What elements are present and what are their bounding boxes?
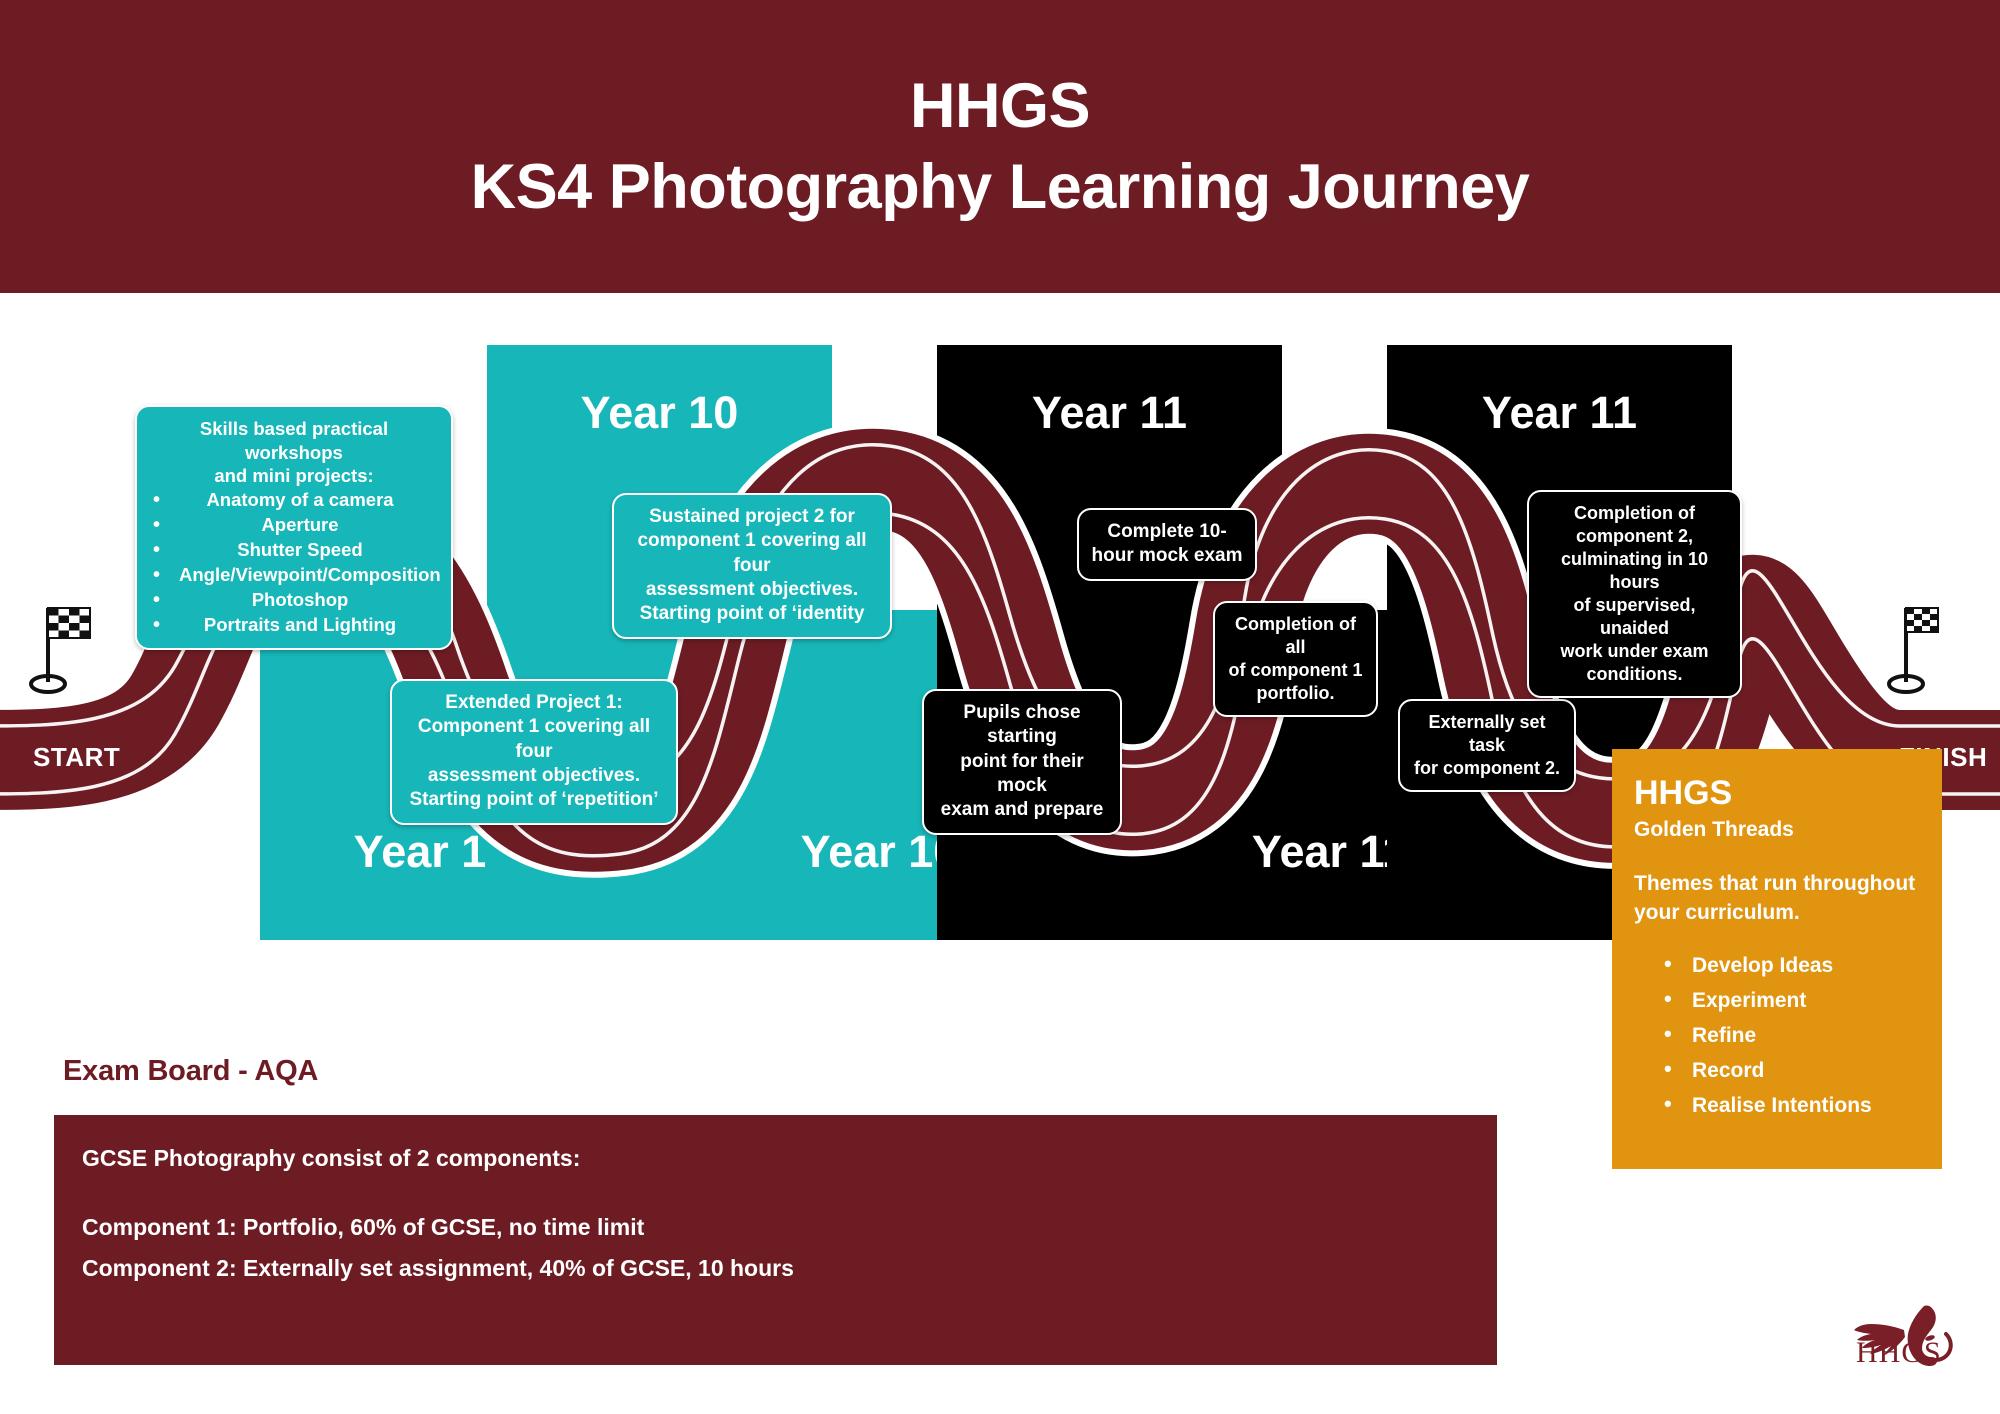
list-item: Develop Ideas (1664, 955, 1920, 976)
callout-ext-task-line-2: for component 2. (1412, 757, 1562, 780)
list-item: •Shutter Speed (153, 538, 439, 563)
callout-pupils-line-1: Pupils chose starting (936, 701, 1108, 750)
start-checkered-flag-icon (28, 600, 98, 700)
list-item: •Aperture (153, 513, 439, 538)
year-column-4-label: Year 11 (937, 387, 1282, 439)
list-item: •Angle/Viewpoint/Composition (153, 563, 439, 588)
page-title-line1: HHGS (910, 70, 1090, 142)
bullet-icon: • (153, 513, 179, 538)
callout-skills-list: •Anatomy of a camera •Aperture •Shutter … (149, 488, 439, 638)
exam-board-component-1: Component 1: Portfolio, 60% of GCSE, no … (82, 1216, 1469, 1239)
callout-extended-line-4: Starting point of ‘repetition’ (404, 788, 664, 812)
golden-threads-subtitle: Golden Threads (1634, 818, 1920, 842)
callout-comp1-line-1: Completion of all (1227, 613, 1364, 659)
golden-threads-title: HHGS (1634, 775, 1920, 812)
callout-mock-line-2: hour mock exam (1091, 544, 1243, 568)
callout-skills-heading-1: Skills based practical workshops (149, 417, 439, 464)
callout-comp2-line-3: culminating in 10 hours (1541, 548, 1728, 594)
callout-comp2-line-1: Completion of (1541, 502, 1728, 525)
list-item: •Portraits and Lighting (153, 613, 439, 638)
callout-skills-workshops: Skills based practical workshops and min… (135, 405, 453, 650)
page-title-line2: KS4 Photography Learning Journey (471, 151, 1530, 223)
callout-comp2-line-4: of supervised, unaided (1541, 594, 1728, 640)
bullet-icon: • (153, 563, 179, 588)
bullet-icon: • (153, 588, 179, 613)
callout-extended-line-1: Extended Project 1: (404, 691, 664, 715)
golden-threads-description: Themes that run throughout your curricul… (1634, 870, 1920, 927)
callout-extended-line-3: assessment objectives. (404, 764, 664, 788)
callout-mock-exam: Complete 10- hour mock exam (1077, 508, 1257, 581)
callout-comp1-line-3: portfolio. (1227, 682, 1364, 705)
callout-skills-bullet-4: Angle/Viewpoint/Composition (179, 563, 459, 587)
callout-skills-bullet-3: Shutter Speed (179, 538, 439, 562)
callout-skills-bullet-1: Anatomy of a camera (179, 488, 439, 512)
callout-comp2-line-5: work under exam (1541, 640, 1728, 663)
callout-skills-heading-2: and mini projects: (149, 464, 439, 488)
callout-pupils-choose: Pupils chose starting point for their mo… (922, 689, 1122, 835)
callout-extended-project: Extended Project 1: Component 1 covering… (390, 679, 678, 825)
golden-threads-panel: HHGS Golden Threads Themes that run thro… (1612, 749, 1942, 1169)
callout-pupils-line-3: exam and prepare (936, 798, 1108, 822)
callout-component1-complete: Completion of all of component 1 portfol… (1213, 601, 1378, 717)
callout-extended-line-2: Component 1 covering all four (404, 715, 664, 764)
year-column-2-label: Year 10 (487, 387, 832, 439)
callout-pupils-line-2: point for their mock (936, 750, 1108, 799)
year-column-6-label: Year 11 (1387, 387, 1732, 439)
callout-sustained-project: Sustained project 2 for component 1 cove… (612, 493, 892, 639)
spacer (82, 1170, 1469, 1216)
exam-board-intro: GCSE Photography consist of 2 components… (82, 1147, 1469, 1170)
golden-threads-desc-line-2: your curriculum. (1634, 899, 1920, 927)
exam-board-title: Exam Board - AQA (63, 1055, 318, 1088)
learning-journey-poster: HHGS KS4 Photography Learning Journey Ye… (0, 0, 2000, 1414)
callout-sustained-line-2: component 1 covering all four (626, 529, 878, 578)
callout-sustained-line-4: Starting point of ‘identity (626, 602, 878, 626)
golden-threads-list: Develop Ideas Experiment Refine Record R… (1634, 955, 1920, 1116)
finish-checkered-flag-icon (1886, 600, 1956, 700)
start-label: START (33, 742, 120, 773)
list-item: Experiment (1664, 990, 1920, 1011)
callout-skills-bullet-6: Portraits and Lighting (179, 613, 439, 637)
callout-skills-bullet-5: Photoshop (179, 588, 439, 612)
callout-ext-task-line-1: Externally set task (1412, 711, 1562, 757)
exam-board-details-box: GCSE Photography consist of 2 components… (54, 1115, 1497, 1365)
hhgs-logo: HHGS (1838, 1300, 1978, 1395)
page-header: HHGS KS4 Photography Learning Journey (0, 0, 2000, 293)
callout-component2-complete: Completion of component 2, culminating i… (1527, 490, 1742, 698)
list-item: •Photoshop (153, 588, 439, 613)
bullet-icon: • (153, 613, 179, 638)
callout-skills-bullet-2: Aperture (179, 513, 439, 537)
golden-threads-desc-line-1: Themes that run throughout (1634, 870, 1920, 898)
horse-head-logo-icon: HHGS (1838, 1300, 1978, 1395)
list-item: Refine (1664, 1025, 1920, 1046)
list-item: •Anatomy of a camera (153, 488, 439, 513)
callout-comp2-line-2: component 2, (1541, 525, 1728, 548)
exam-board-component-2: Component 2: Externally set assignment, … (82, 1257, 1469, 1280)
callout-external-task: Externally set task for component 2. (1398, 699, 1576, 792)
bullet-icon: • (153, 538, 179, 563)
callout-comp1-line-2: of component 1 (1227, 659, 1364, 682)
svg-text:HHGS: HHGS (1856, 1336, 1942, 1369)
callout-sustained-line-3: assessment objectives. (626, 578, 878, 602)
callout-sustained-line-1: Sustained project 2 for (626, 505, 878, 529)
list-item: Record (1664, 1060, 1920, 1081)
bullet-icon: • (153, 488, 179, 513)
list-item: Realise Intentions (1664, 1095, 1920, 1116)
callout-comp2-line-6: conditions. (1541, 663, 1728, 686)
callout-mock-line-1: Complete 10- (1091, 520, 1243, 544)
